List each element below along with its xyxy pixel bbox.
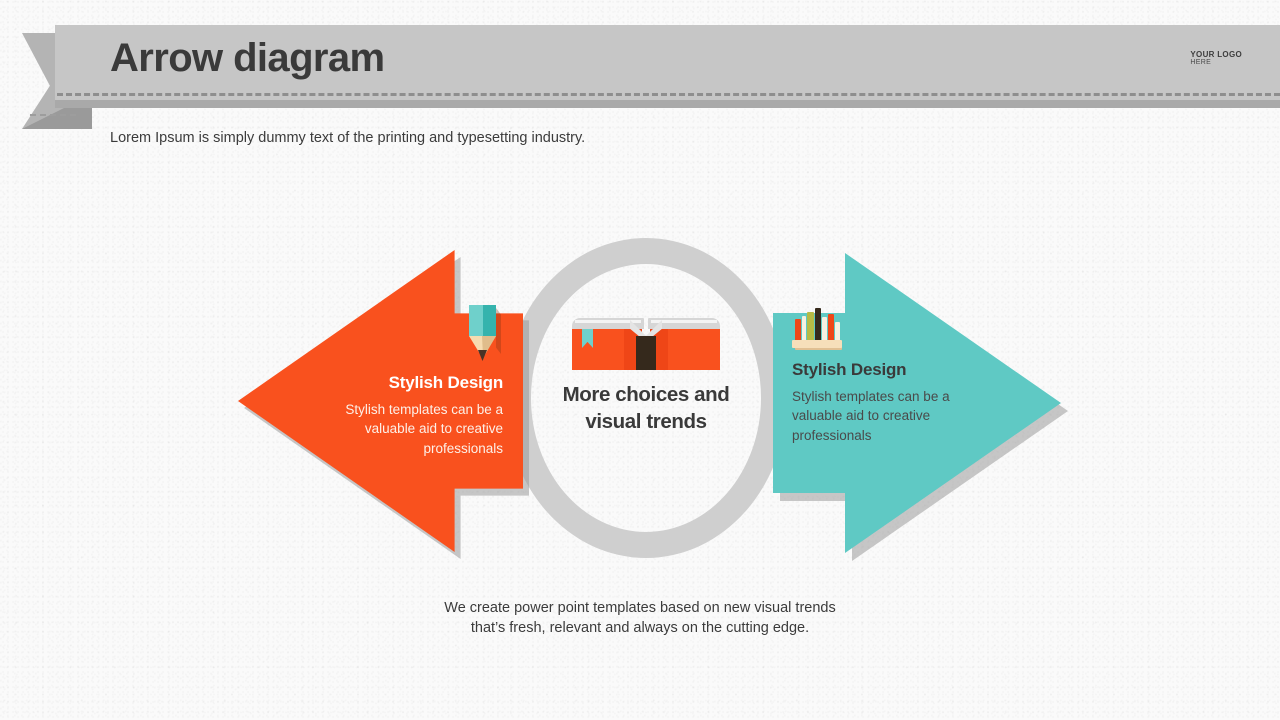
bookshelf-icon: [792, 308, 842, 350]
ribbon-shadow-bar: [55, 100, 1280, 108]
subtitle-text: Lorem Ipsum is simply dummy text of the …: [110, 130, 585, 146]
left-arrow-heading: Stylish Design: [308, 373, 503, 393]
pencil-icon: [467, 305, 501, 361]
ribbon-dashed-line: [57, 93, 1280, 96]
right-arrow-heading: Stylish Design: [792, 360, 992, 380]
logo-placeholder: YOUR LOGO HERE: [1190, 50, 1242, 67]
right-arrow-content: Stylish Design Stylish templates can be …: [792, 308, 992, 445]
left-arrow-body: Stylish templates can be a valuable aid …: [308, 400, 503, 458]
bookshelf-book: [835, 322, 840, 341]
center-title-line-1: More choices and: [546, 382, 746, 409]
header-ribbon: Arrow diagram YOUR LOGO HERE: [0, 0, 1280, 140]
right-arrow-body: Stylish templates can be a valuable aid …: [792, 387, 992, 445]
open-book-icon: [572, 318, 720, 370]
left-arrow-content: Stylish Design Stylish templates can be …: [308, 305, 503, 458]
logo-line-2: HERE: [1190, 59, 1242, 67]
center-content: More choices and visual trends: [546, 318, 746, 435]
center-title-line-2: visual trends: [546, 409, 746, 436]
bookshelf-book: [822, 317, 827, 341]
bookshelf-book: [807, 312, 814, 341]
ribbon-fold-dashed-line: [30, 114, 76, 116]
bookshelf-book: [815, 308, 821, 341]
bookshelf-book: [795, 319, 801, 341]
page-title: Arrow diagram: [110, 36, 385, 81]
center-title: More choices and visual trends: [546, 382, 746, 435]
right-arrow-group[interactable]: Stylish Design Stylish templates can be …: [773, 253, 1061, 553]
left-arrow-group[interactable]: Stylish Design Stylish templates can be …: [238, 250, 523, 552]
logo-line-1: YOUR LOGO: [1190, 50, 1242, 59]
bookshelf-book: [828, 314, 834, 341]
bookshelf-book: [802, 316, 806, 341]
footer-line-2: that’s fresh, relevant and always on the…: [340, 618, 940, 638]
footer-line-1: We create power point templates based on…: [340, 598, 940, 618]
footer-caption: We create power point templates based on…: [340, 598, 940, 638]
